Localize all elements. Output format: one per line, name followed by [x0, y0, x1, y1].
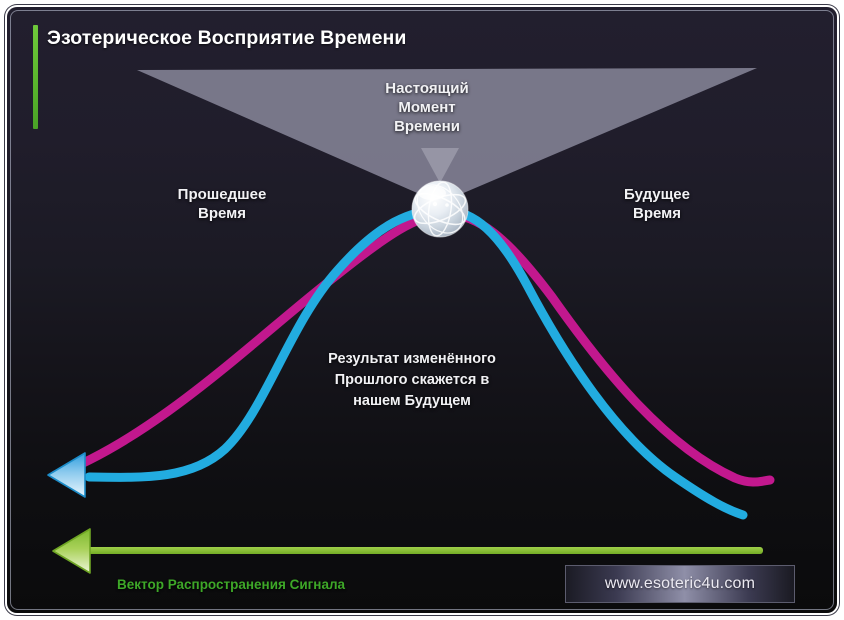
- slide-canvas: Эзотерическое Восприятие Времени Настоящ…: [7, 7, 837, 613]
- website-url-badge[interactable]: www.esoteric4u.com: [565, 565, 795, 603]
- label-past-time: Прошедшее Время: [127, 185, 317, 223]
- blue-vector-arrow-icon: [48, 453, 85, 497]
- slide-frame: Эзотерическое Восприятие Времени Настоящ…: [0, 0, 844, 620]
- label-signal-vector: Вектор Распространения Сигнала: [117, 577, 437, 592]
- label-result-note: Результат изменённого Прошлого скажется …: [282, 349, 542, 412]
- website-url-text: www.esoteric4u.com: [605, 575, 755, 593]
- label-present-moment: Настоящий Момент Времени: [362, 79, 492, 137]
- title-accent-bar: [33, 25, 38, 129]
- page-title: Эзотерическое Восприятие Времени: [47, 27, 406, 50]
- magenta-time-curve: [55, 214, 770, 482]
- label-future-time: Будущее Время: [562, 185, 752, 223]
